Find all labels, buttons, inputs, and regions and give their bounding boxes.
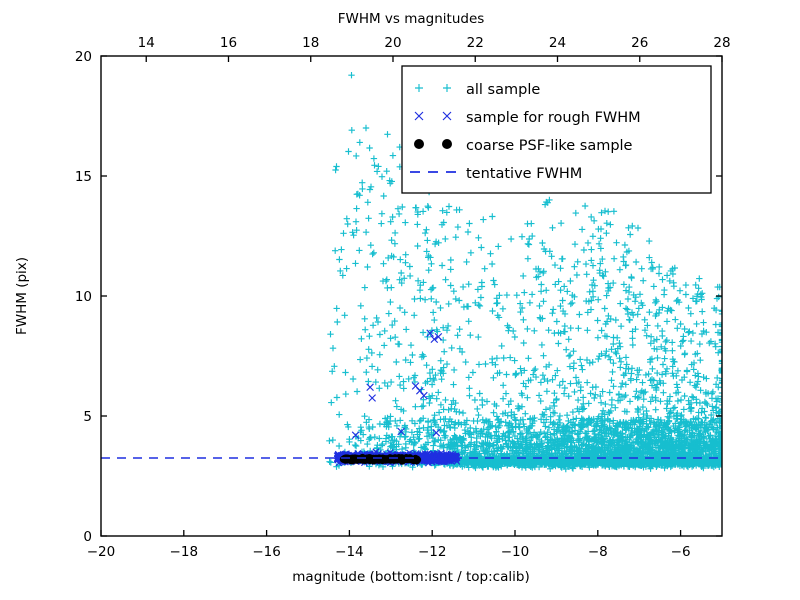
y-axis-label: FWHM (pix)	[14, 257, 30, 335]
legend-label: tentative FWHM	[466, 166, 582, 182]
svg-text:−8: −8	[588, 544, 608, 560]
svg-text:28: 28	[713, 35, 730, 51]
svg-text:5: 5	[83, 409, 92, 425]
svg-text:22: 22	[467, 35, 484, 51]
svg-text:24: 24	[549, 35, 566, 51]
svg-text:−20: −20	[87, 544, 116, 560]
svg-text:−10: −10	[501, 544, 530, 560]
svg-text:20: 20	[75, 49, 92, 65]
figure-canvas: 05101520 −20−18−16−14−12−10−8−6 14161820…	[0, 0, 800, 600]
svg-text:−14: −14	[335, 544, 364, 560]
series-coarse-psf-like-sample	[340, 454, 421, 465]
svg-text:−12: −12	[418, 544, 447, 560]
svg-text:−16: −16	[252, 544, 281, 560]
svg-text:10: 10	[75, 289, 92, 305]
legend-label: coarse PSF-like sample	[466, 138, 633, 154]
fwhm-vs-magnitude-scatter-plot: 05101520 −20−18−16−14−12−10−8−6 14161820…	[0, 0, 800, 600]
svg-text:−6: −6	[671, 544, 691, 560]
legend[interactable]: all samplesample for rough FWHMcoarse PS…	[402, 66, 711, 193]
svg-text:18: 18	[302, 35, 319, 51]
svg-text:−18: −18	[170, 544, 199, 560]
svg-text:14: 14	[138, 35, 155, 51]
legend-label: all sample	[466, 82, 540, 98]
svg-text:16: 16	[220, 35, 237, 51]
svg-text:26: 26	[631, 35, 648, 51]
legend-label: sample for rough FWHM	[466, 110, 641, 126]
plot-title: FWHM vs magnitudes	[338, 11, 485, 27]
x-axis-label: magnitude (bottom:isnt / top:calib)	[292, 569, 529, 585]
svg-text:0: 0	[83, 529, 92, 545]
svg-text:15: 15	[75, 169, 92, 185]
svg-text:20: 20	[384, 35, 401, 51]
